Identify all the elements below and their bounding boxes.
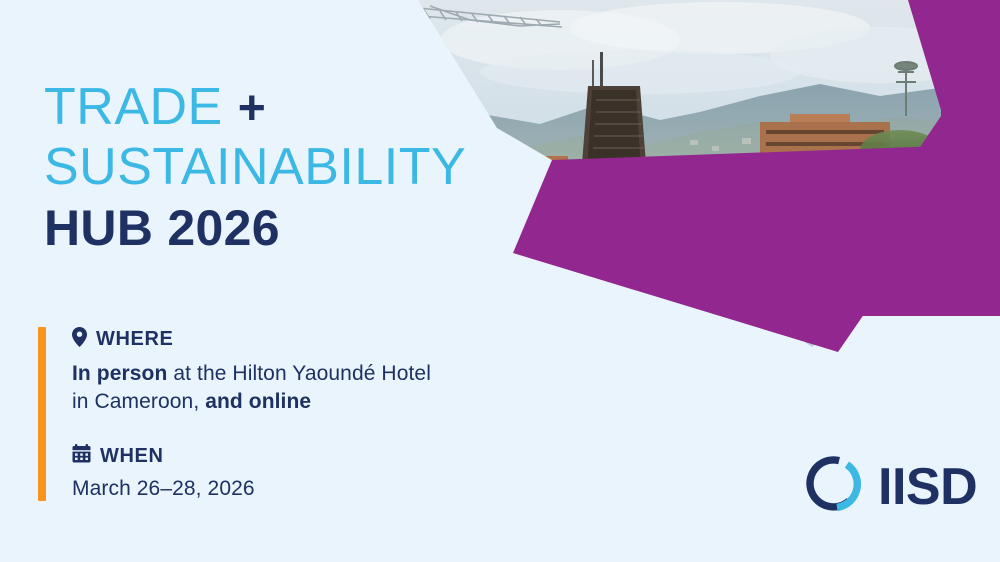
- city-photo: [400, 0, 990, 360]
- where-text-bold-1: In person: [72, 362, 167, 385]
- plus-icon: +: [238, 82, 267, 135]
- background-slab: [760, 114, 890, 184]
- poster-canvas: TRADE + SUSTAINABILITY HUB 2026 WHERE In…: [0, 0, 1000, 562]
- page-title: TRADE + SUSTAINABILITY HUB 2026: [44, 78, 466, 258]
- headline-trade: TRADE: [44, 78, 223, 136]
- orange-accent-bar: [38, 327, 46, 501]
- iisd-wordmark: IISD: [878, 461, 977, 513]
- vegetation: [410, 130, 944, 356]
- iisd-ring-icon: [806, 455, 864, 518]
- where-text: In person at the Hilton Yaoundé Hotel in…: [72, 360, 431, 416]
- parked-cars: [660, 287, 777, 329]
- tower-building: [576, 52, 652, 214]
- purple-right-shape-fill: [838, 0, 1000, 316]
- map-pin-icon: [72, 327, 87, 351]
- chevron-facade-building: [734, 170, 896, 292]
- calendar-icon: [72, 444, 91, 467]
- where-label: WHERE: [96, 329, 173, 349]
- headline-line-2: SUSTAINABILITY: [44, 138, 466, 196]
- event-details: WHERE In person at the Hilton Yaoundé Ho…: [38, 327, 431, 501]
- iisd-logo: IISD: [806, 455, 977, 518]
- pavilion: [772, 282, 830, 308]
- details-spacer: [72, 416, 431, 444]
- telecom-tower: [895, 62, 917, 116]
- midrise-left: [470, 156, 568, 242]
- midrise-right: [640, 162, 768, 246]
- headline-line-3: HUB 2026: [44, 196, 466, 258]
- when-label: WHEN: [100, 446, 164, 466]
- where-heading: WHERE: [72, 327, 431, 351]
- where-text-bold-2: and online: [205, 390, 311, 413]
- when-date: March 26–28, 2026: [72, 477, 431, 501]
- where-text-rest-2: in Cameroon,: [72, 390, 205, 413]
- when-heading: WHEN: [72, 444, 431, 467]
- foreground-building: [470, 234, 666, 340]
- purple-left-triangle: [513, 146, 941, 352]
- purple-right-shape: [838, 0, 1000, 316]
- headline-line-1: TRADE +: [44, 78, 466, 138]
- where-text-rest-1: at the Hilton Yaoundé Hotel: [167, 362, 431, 385]
